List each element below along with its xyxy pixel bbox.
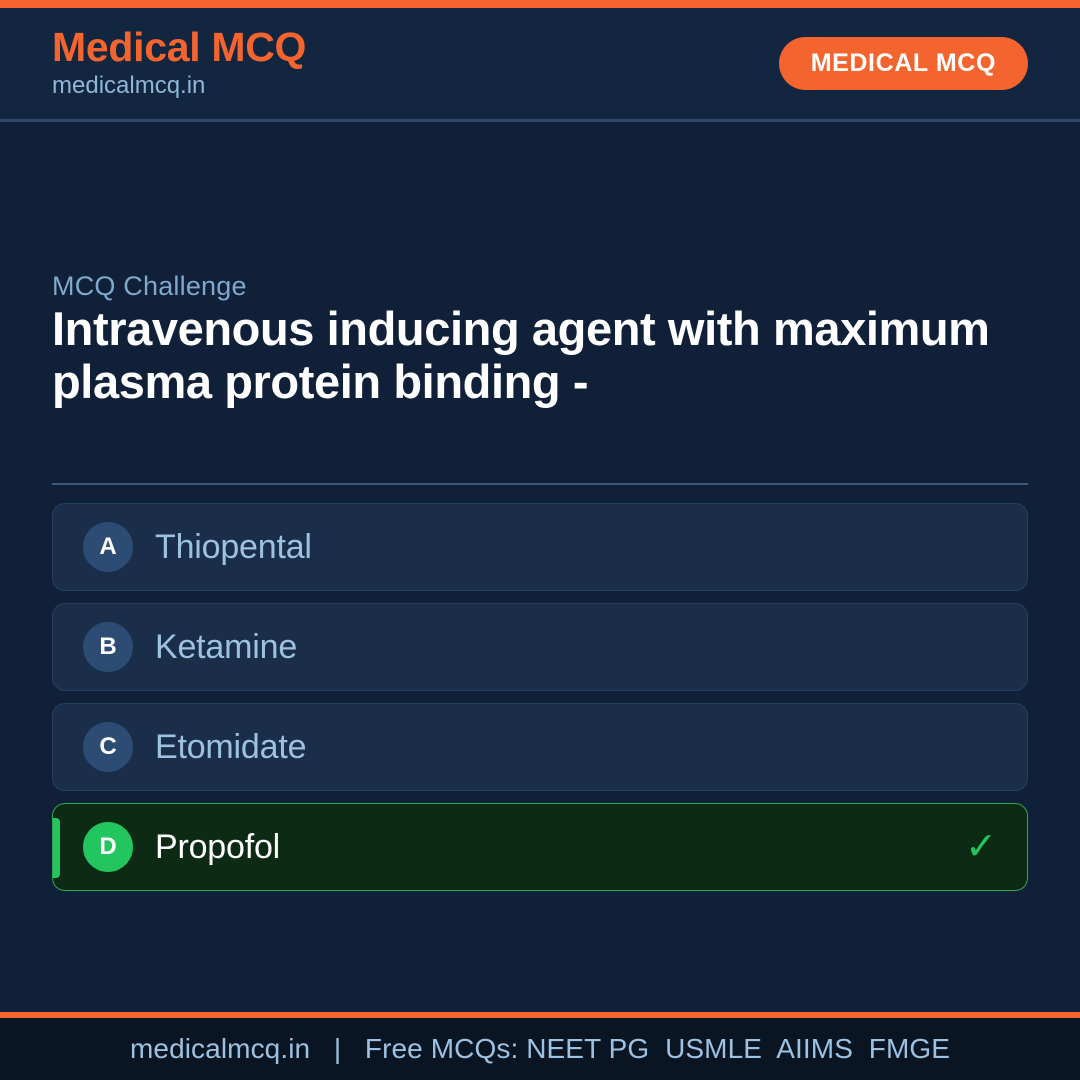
kicker-label: MCQ Challenge — [52, 271, 247, 302]
header-badge: MEDICAL MCQ — [779, 37, 1028, 90]
top-accent-bar — [0, 0, 1080, 8]
brand-subtitle: medicalmcq.in — [52, 72, 306, 101]
option-b[interactable]: B Ketamine — [52, 603, 1028, 691]
option-letter-badge: B — [83, 622, 133, 672]
option-label: Etomidate — [155, 728, 306, 767]
question-text: Intravenous inducing agent with maximum … — [52, 303, 1028, 408]
page-footer: medicalmcq.in | Free MCQs: NEET PG USMLE… — [0, 1018, 1080, 1080]
main-content: MCQ Challenge Intravenous inducing agent… — [0, 125, 1080, 1008]
option-c[interactable]: C Etomidate — [52, 703, 1028, 791]
question-divider — [52, 483, 1028, 485]
check-icon: ✓ — [965, 828, 997, 866]
option-label: Propofol — [155, 828, 280, 867]
option-a[interactable]: A Thiopental — [52, 503, 1028, 591]
footer-text: medicalmcq.in | Free MCQs: NEET PG USMLE… — [130, 1033, 950, 1065]
option-letter-badge: C — [83, 722, 133, 772]
option-letter-badge: D — [83, 822, 133, 872]
brand-block: Medical MCQ medicalmcq.in — [52, 26, 306, 101]
option-label: Ketamine — [155, 628, 297, 667]
page-header: Medical MCQ medicalmcq.in MEDICAL MCQ — [0, 8, 1080, 122]
option-letter-badge: A — [83, 522, 133, 572]
correct-accent-bar — [53, 818, 60, 878]
brand-title: Medical MCQ — [52, 26, 306, 69]
options-list: A Thiopental B Ketamine C Etomidate D Pr… — [52, 503, 1028, 891]
option-d[interactable]: D Propofol ✓ — [52, 803, 1028, 891]
option-label: Thiopental — [155, 528, 312, 567]
